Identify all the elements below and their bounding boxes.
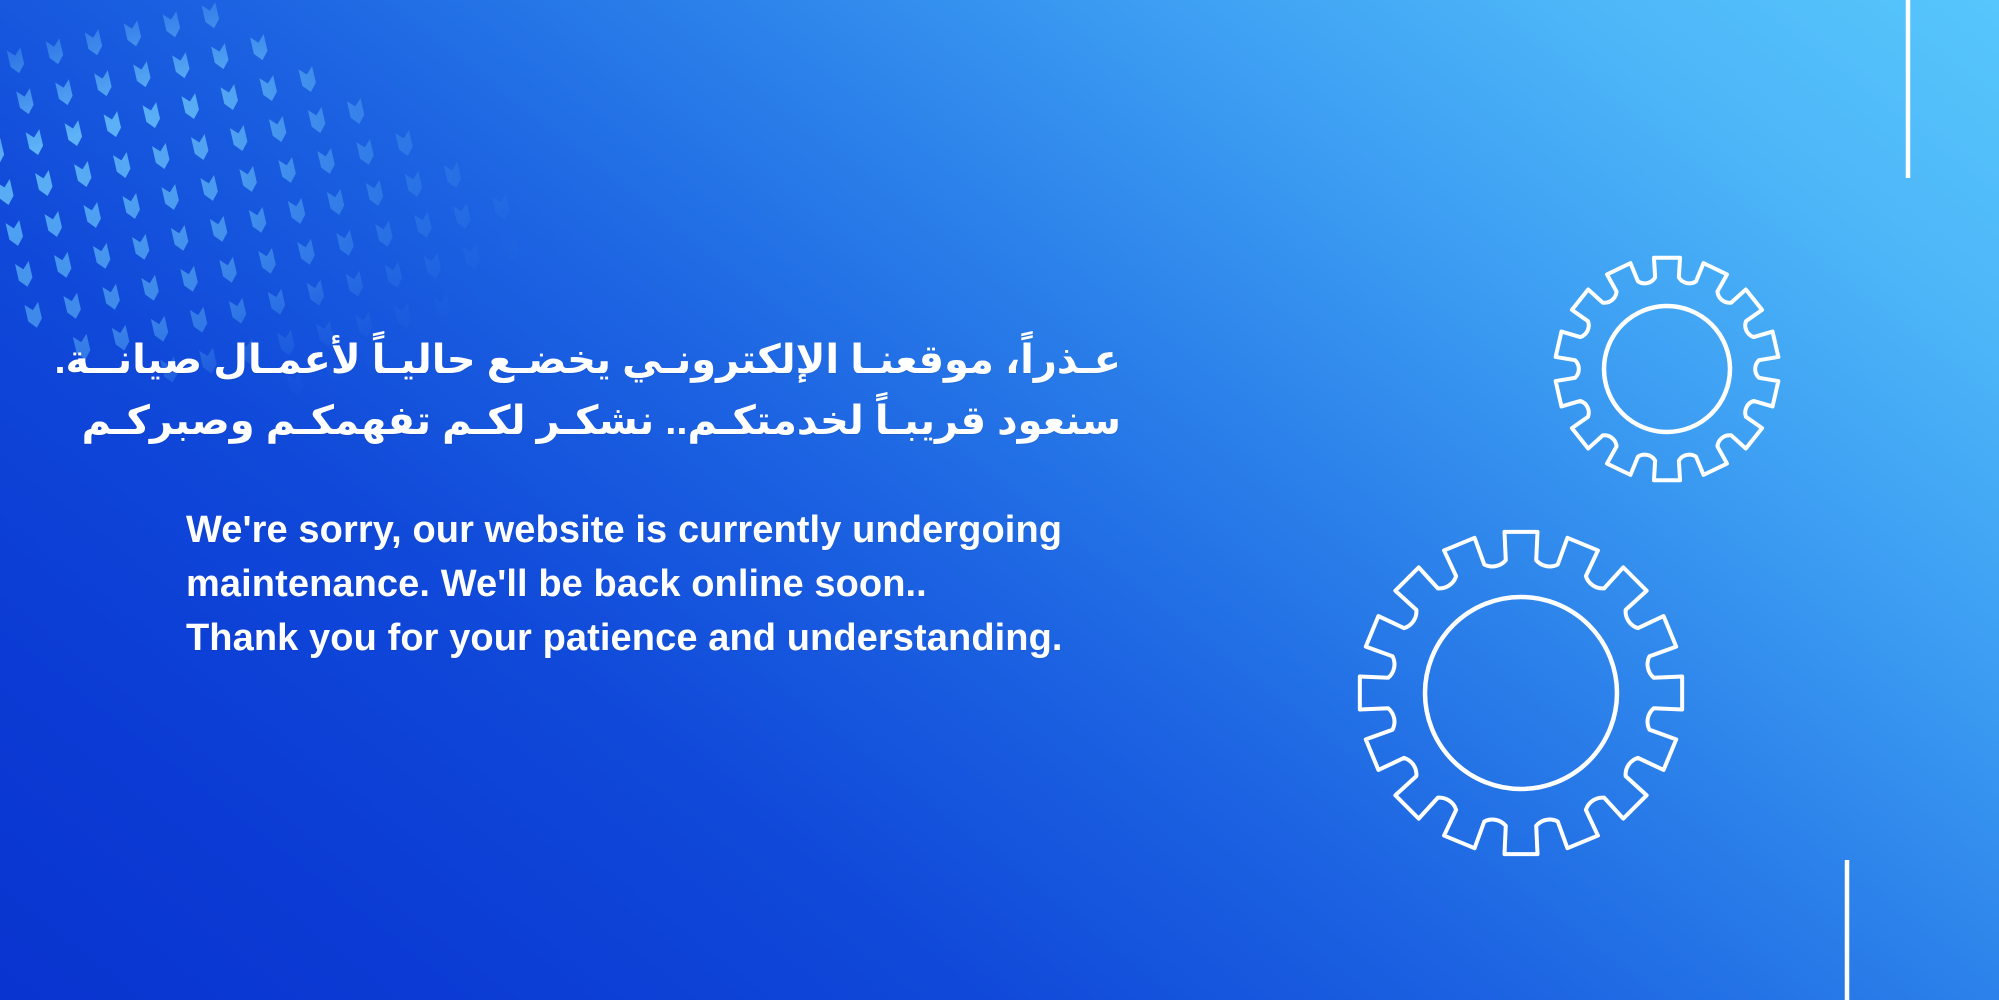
large-gear-outline [1360,532,1682,854]
arabic-line-2: سنعود قريبـاً لخدمتكـم.. نشكـر لكـم تفهم… [186,391,1121,452]
small-gear [1575,164,1999,625]
large-gear-hub [1425,597,1617,789]
small-gear-hub [1604,306,1730,432]
maintenance-page: عـذراً، موقعنـا الإلكترونـي يخضـع حاليـا… [0,0,1999,1000]
english-line-3: Thank you for your patience and understa… [186,612,1236,666]
gear-illustration [1239,0,1999,1000]
english-line-2: maintenance. We'll be back online soon.. [186,558,1236,612]
arabic-line-1: عـذراً، موقعنـا الإلكترونـي يخضـع حاليـا… [186,330,1121,391]
english-message: We're sorry, our website is currently un… [186,504,1236,666]
arabic-message: عـذراً، موقعنـا الإلكترونـي يخضـع حاليـا… [186,330,1121,452]
english-line-1: We're sorry, our website is currently un… [186,504,1236,558]
large-gear [1425,597,1617,789]
small-gear-outline [1556,258,1779,480]
maintenance-message: عـذراً، موقعنـا الإلكترونـي يخضـع حاليـا… [186,330,1236,665]
